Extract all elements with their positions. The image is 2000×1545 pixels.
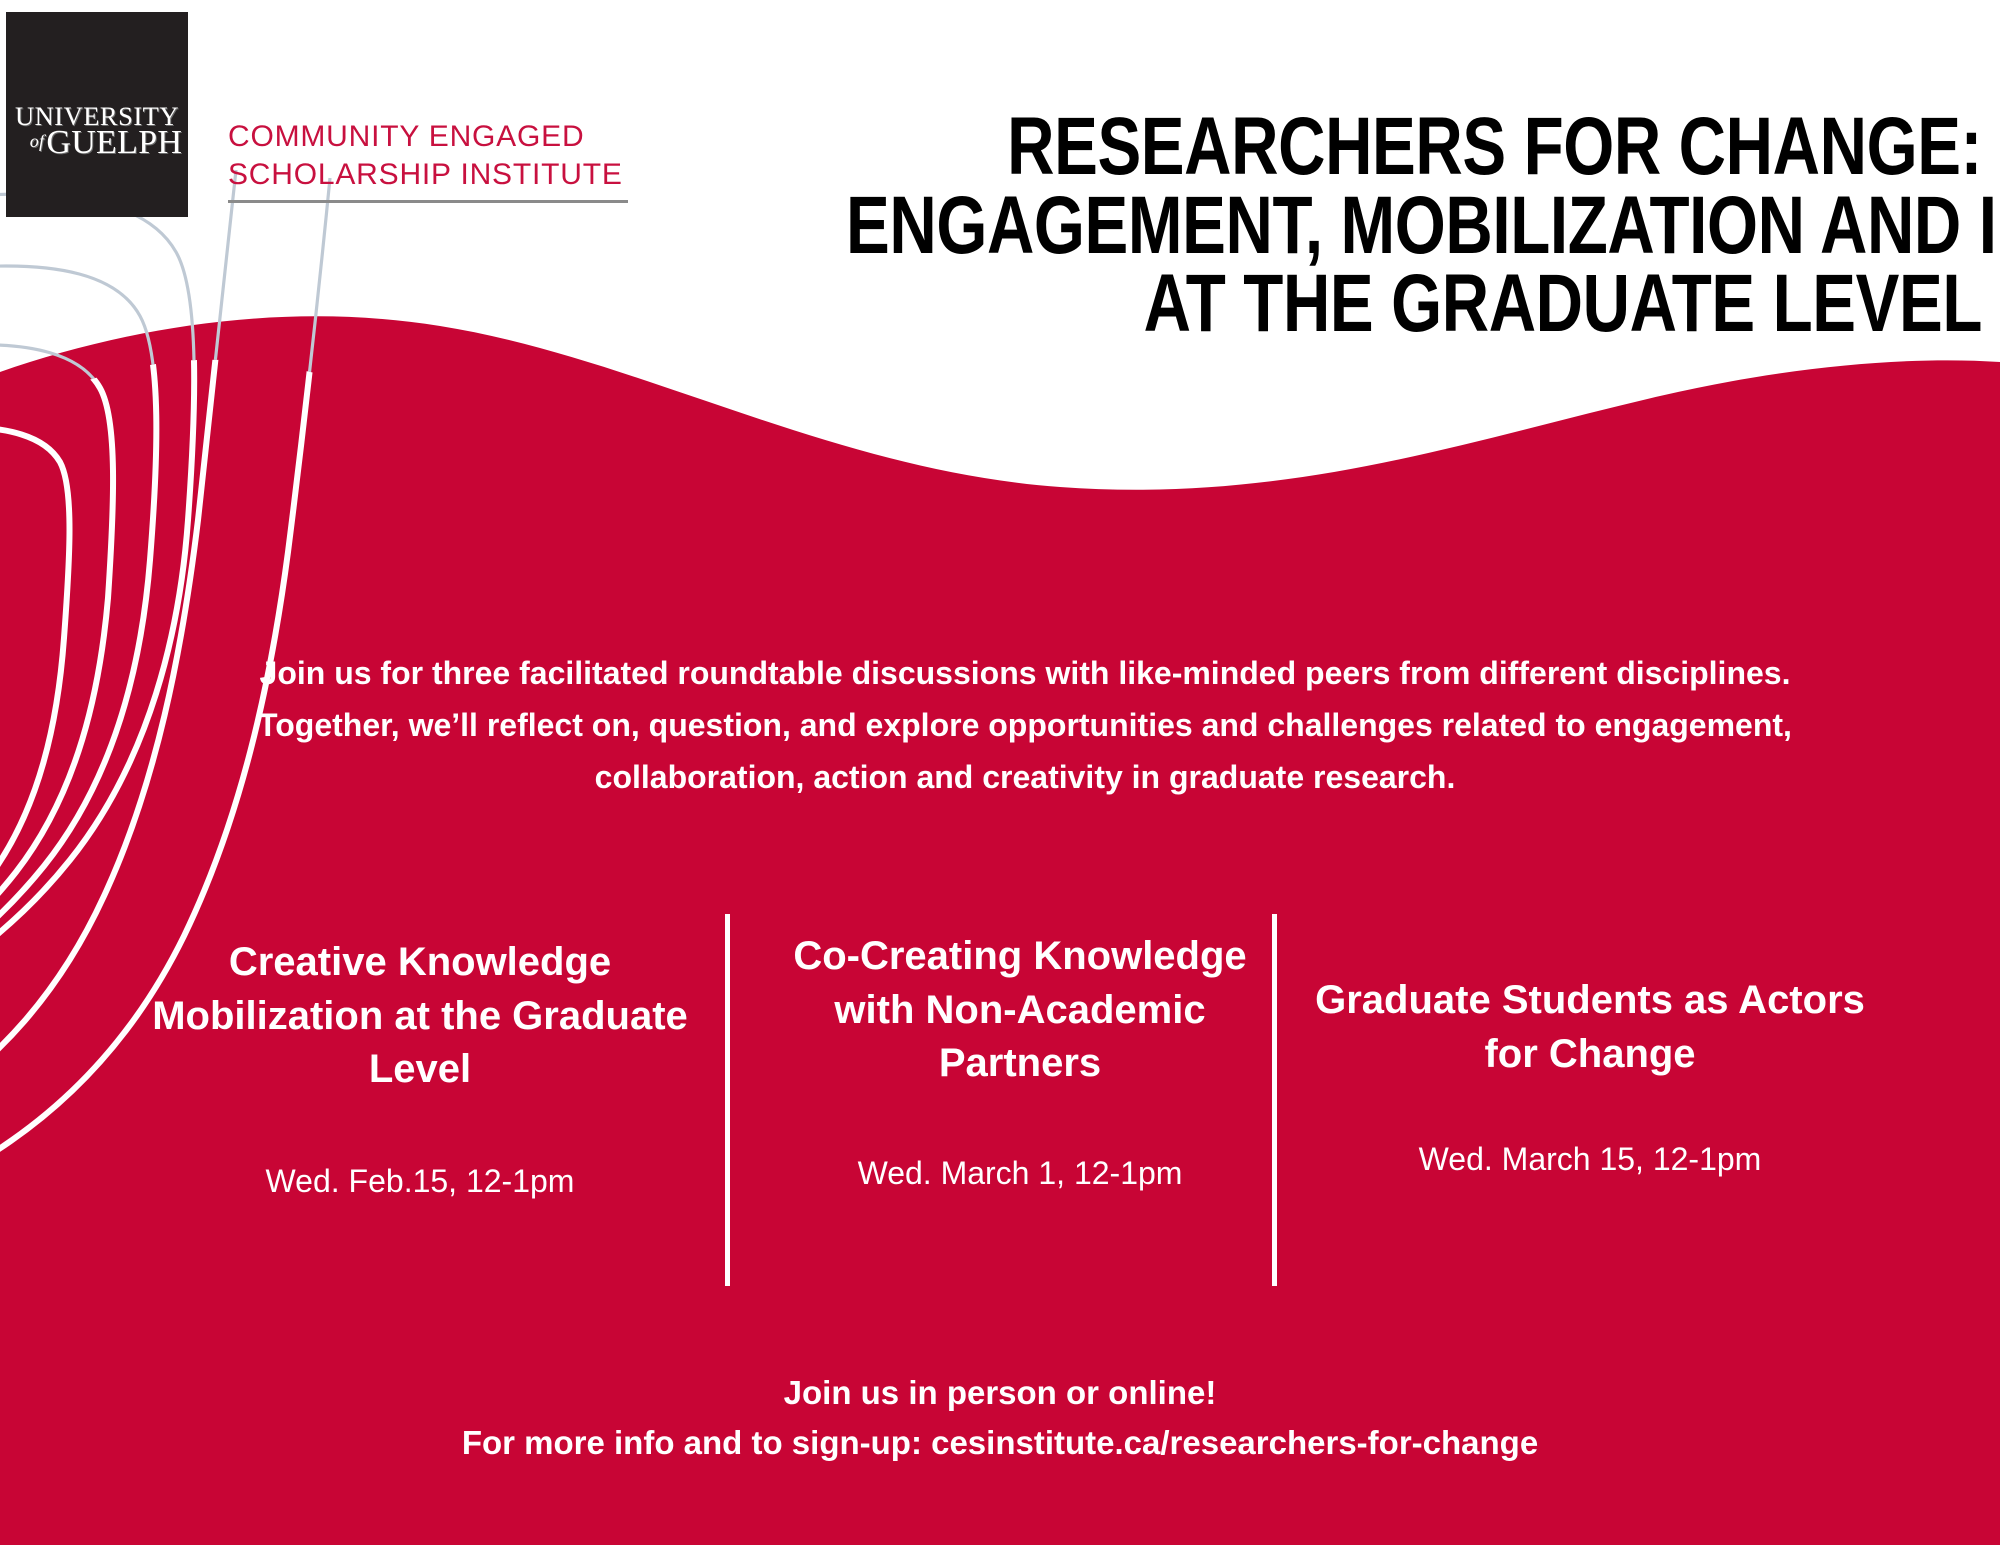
logo-word-guelph: GUELPH [46,124,182,161]
session-title: Graduate Students as Actors for Change [1310,930,1870,1081]
session-item-creative-knowledge-mobilization: Creative Knowledge Mobilization at the G… [120,930,720,1202]
university-of-guelph-logo: UNIVERSITY ofGUELPH [6,12,188,217]
title-line-2: ENGAGEMENT, MOBILIZATION AND IMPACT [846,187,1982,266]
session-date: Wed. March 15, 12-1pm [1310,1081,1870,1181]
session-title: Co-Creating Knowledge with Non-Academic … [760,930,1280,1091]
session-list: Creative Knowledge Mobilization at the G… [120,930,1920,1310]
session-date: Wed. March 1, 12-1pm [760,1091,1280,1195]
footer-line-signup-url[interactable]: For more info and to sign-up: cesinstitu… [0,1418,2000,1468]
logo-line-guelph: ofGUELPH [12,128,183,158]
session-divider [1272,914,1277,1286]
session-item-graduate-students-as-actors: Graduate Students as Actors for Change W… [1310,930,1870,1181]
poster-footer: Join us in person or online! For more in… [0,1368,2000,1467]
university-of-guelph-logo-text: UNIVERSITY ofGUELPH [12,105,183,158]
title-line-1: RESEARCHERS FOR CHANGE: [846,108,1982,187]
session-title: Creative Knowledge Mobilization at the G… [120,930,720,1097]
session-item-co-creating-knowledge: Co-Creating Knowledge with Non-Academic … [760,930,1280,1194]
footer-line-attendance: Join us in person or online! [0,1368,2000,1418]
logo-word-of: of [30,131,47,151]
page-title: RESEARCHERS FOR CHANGE: ENGAGEMENT, MOBI… [562,108,1982,344]
event-poster: UNIVERSITY ofGUELPH COMMUNITY ENGAGED SC… [0,0,2000,1545]
intro-paragraph: Join us for three facilitated roundtable… [230,648,1820,803]
title-line-3: AT THE GRADUATE LEVEL [846,265,1982,344]
session-divider [725,914,730,1286]
session-date: Wed. Feb.15, 12-1pm [120,1097,720,1203]
